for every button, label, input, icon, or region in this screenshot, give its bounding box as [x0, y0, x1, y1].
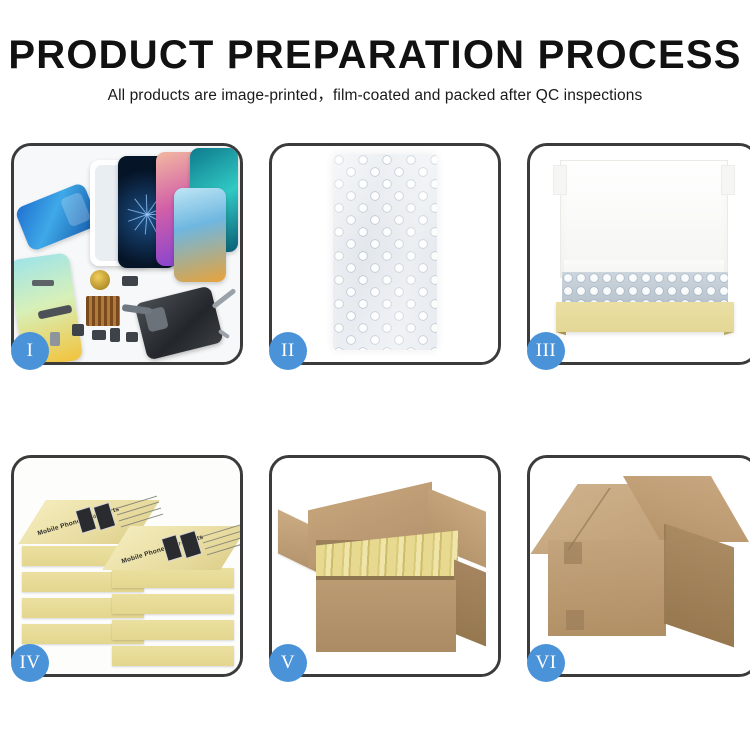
bubble-texture — [562, 272, 728, 304]
small-part-3 — [72, 324, 84, 336]
stack-box-slab — [112, 646, 234, 666]
box-stack: Mobile Phone Spare Parts Mobile Phone Sp… — [20, 474, 240, 670]
bubble-wrap-package — [333, 154, 437, 350]
small-part-2 — [122, 276, 138, 286]
coil-part — [90, 270, 110, 290]
steps-grid: I II III — [11, 143, 739, 683]
stack-box-slab — [112, 620, 234, 640]
step-card-5: V — [269, 455, 501, 677]
screw-tray-part — [86, 296, 120, 326]
carton-tape-upper — [564, 542, 582, 564]
plastic-sheen — [333, 154, 437, 350]
carton-right-face — [666, 524, 734, 647]
step-image-6 — [530, 458, 750, 674]
phone-orange-blue — [174, 188, 226, 282]
small-part-6 — [126, 332, 138, 342]
stack-box-slab — [112, 568, 234, 588]
step-badge-3: III — [527, 332, 565, 370]
step-card-6: VI — [527, 455, 750, 677]
carton-side-right — [454, 560, 486, 647]
step-card-2: II — [269, 143, 501, 365]
page-title: PRODUCT PREPARATION PROCESS — [0, 32, 750, 78]
stack-box-slab — [112, 594, 234, 614]
step-card-3: III — [527, 143, 750, 365]
step-badge-1: I — [11, 332, 49, 370]
step-badge-4: IV — [11, 644, 49, 682]
step-image-5 — [272, 458, 498, 674]
step-badge-2: II — [269, 332, 307, 370]
carton-front — [316, 580, 456, 652]
phone-back-glass-blue — [14, 182, 100, 252]
step-badge-6: VI — [527, 644, 565, 682]
step-card-1: I — [11, 143, 243, 365]
tweezers-tool — [211, 288, 236, 309]
header: PRODUCT PREPARATION PROCESS All products… — [0, 0, 750, 106]
small-part-7 — [50, 332, 60, 346]
page-subtitle: All products are image-printed，film-coat… — [0, 86, 750, 106]
step-image-1 — [14, 146, 240, 362]
phone-back-housing — [134, 285, 224, 360]
box-tray-yellow — [556, 302, 734, 332]
carton-vertical-edge — [664, 524, 666, 624]
carton-tape-lower — [566, 610, 584, 630]
step-image-2 — [272, 146, 498, 362]
small-part-1 — [32, 280, 54, 286]
bubble-wrap-fill — [562, 272, 728, 304]
step-image-3 — [530, 146, 750, 362]
product-preparation-infographic: PRODUCT PREPARATION PROCESS All products… — [0, 0, 750, 750]
small-part-4 — [92, 330, 106, 340]
step-card-4: Mobile Phone Spare Parts Mobile Phone Sp… — [11, 455, 243, 677]
small-part-5 — [110, 328, 120, 342]
step-image-4: Mobile Phone Spare Parts Mobile Phone Sp… — [14, 458, 240, 674]
step-badge-5: V — [269, 644, 307, 682]
